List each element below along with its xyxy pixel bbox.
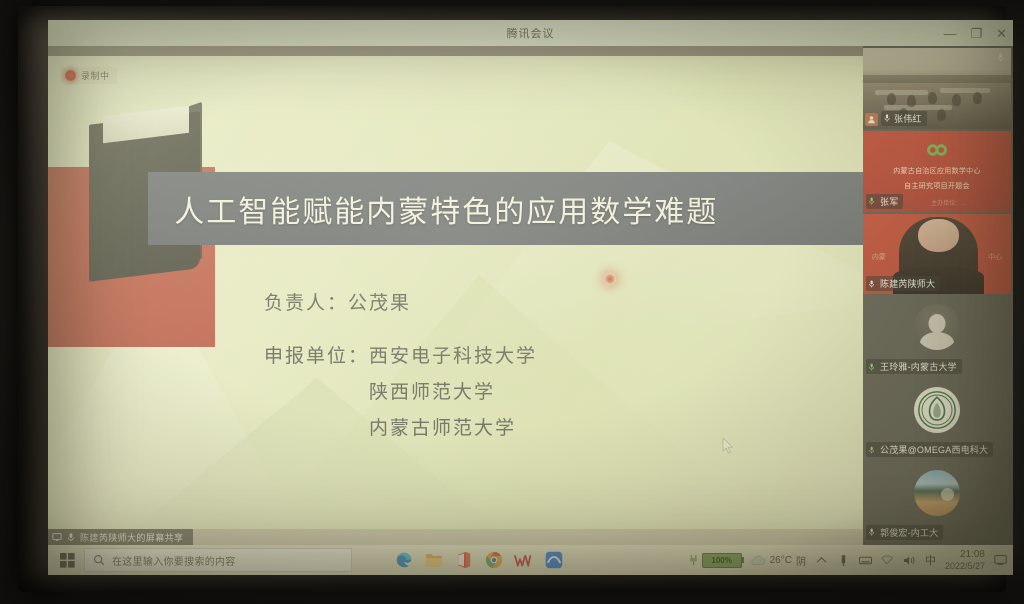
participant-name-chip: 陈建芮陕师大 <box>866 276 940 291</box>
participant-tile[interactable]: 郭俊宏-内工大 <box>863 462 1011 543</box>
slide-unit-item: 内蒙古师范大学 <box>369 413 537 440</box>
window-titlebar: 腾讯会议 — ❐ ✕ <box>48 20 1013 46</box>
participant-name-chip: 公茂果@OMEGA西电科大 <box>866 442 993 457</box>
wps-icon[interactable] <box>514 551 533 570</box>
plug-icon <box>688 554 699 566</box>
tile-slide-footer: 主办单位：… <box>931 198 967 207</box>
mic-icon <box>66 532 76 542</box>
tile-bg-text-left: 内蒙 <box>872 252 886 262</box>
slide-unit-item: 西安电子科技大学 <box>369 341 537 368</box>
weather-widget[interactable]: 26°C 阴 <box>751 553 806 568</box>
participant-name: 陈建芮陕师大 <box>880 277 935 290</box>
avatar <box>914 387 960 433</box>
presentation-slide[interactable]: 人工智能赋能内蒙特色的应用数学难题 负责人：公茂果 申报单位： 西安电子科技大学… <box>48 56 863 529</box>
mic-speaking-icon <box>868 362 877 372</box>
recording-dot-icon <box>65 70 76 81</box>
tile-slide-line-2: 自主研究项目开题会 <box>863 181 1011 191</box>
usb-icon[interactable] <box>837 554 850 567</box>
mic-icon <box>996 52 1005 63</box>
chevron-up-icon[interactable] <box>815 554 828 567</box>
participant-name-chip: 张军 <box>866 194 903 209</box>
tile-slide-line-1: 内蒙古自治区应用数学中心 <box>863 166 1011 176</box>
system-tray[interactable]: 100% 26°C 阴 <box>688 545 1007 575</box>
edge-icon[interactable] <box>394 551 413 570</box>
mic-icon <box>883 113 891 123</box>
share-status-label: 陈建芮陕师大的屏幕共享 <box>80 531 183 544</box>
volume-icon[interactable] <box>903 554 916 567</box>
monitor-icon <box>52 532 62 542</box>
windows-taskbar[interactable]: 在这里输入你要搜索的内容 <box>48 545 1013 575</box>
avatar <box>914 470 960 516</box>
share-status-tag: 陈建芮陕师大的屏幕共享 <box>48 529 193 545</box>
participant-name-chip: 王玲雅-内蒙古大学 <box>866 359 962 374</box>
search-placeholder: 在这里输入你要搜索的内容 <box>112 553 236 568</box>
projected-screen: 腾讯会议 — ❐ ✕ <box>48 20 1013 575</box>
recording-indicator: 录制中 <box>61 67 117 84</box>
recording-label: 录制中 <box>81 69 110 82</box>
ime-indicator[interactable]: 中 <box>925 552 936 568</box>
maximize-button[interactable]: ❐ <box>970 27 982 40</box>
participant-name: 郭俊宏-内工大 <box>880 526 938 539</box>
taskbar-app-icons[interactable] <box>394 551 563 570</box>
infinity-logo-icon <box>920 142 954 158</box>
tencent-meeting-icon[interactable] <box>544 551 563 570</box>
projection-room: 腾讯会议 — ❐ ✕ <box>0 0 1024 604</box>
participant-name-chip: 郭俊宏-内工大 <box>866 525 943 540</box>
participant-name: 王玲雅-内蒙古大学 <box>880 360 957 373</box>
weather-label: 阴 <box>796 553 806 568</box>
participant-tile[interactable]: 内蒙 中心 陈建芮陕师大 <box>863 214 1011 295</box>
slide-unit-item: 陕西师范大学 <box>369 377 537 404</box>
share-top-strip <box>48 46 863 56</box>
battery-indicator[interactable]: 100% <box>688 553 742 568</box>
notification-icon[interactable] <box>994 554 1007 567</box>
slide-body: 负责人：公茂果 申报单位： 西安电子科技大学 陕西师范大学 内蒙古师范大学 <box>264 288 814 440</box>
slide-units-row: 申报单位： 西安电子科技大学 陕西师范大学 内蒙古师范大学 <box>264 341 814 440</box>
participant-strip[interactable]: 张伟红 内蒙古自治区应用数学中心 自主研究项目开题会 主办单位：… <box>863 46 1013 545</box>
meeting-body: 人工智能赋能内蒙特色的应用数学难题 负责人：公茂果 申报单位： 西安电子科技大学… <box>48 46 1013 545</box>
network-icon[interactable] <box>881 554 894 567</box>
clock-date: 2022/5/27 <box>945 561 985 571</box>
chrome-icon[interactable] <box>484 551 503 570</box>
omega-logo-icon <box>917 390 957 430</box>
clock-widget[interactable]: 21:08 2022/5/27 <box>945 549 985 571</box>
mouse-cursor-icon <box>722 437 734 455</box>
close-button[interactable]: ✕ <box>996 27 1007 40</box>
cloud-icon <box>751 555 766 566</box>
clock-time: 21:08 <box>960 549 985 561</box>
slide-unit-list: 西安电子科技大学 陕西师范大学 内蒙古师范大学 <box>369 341 537 440</box>
keyboard-icon[interactable] <box>859 554 872 567</box>
search-input[interactable]: 在这里输入你要搜索的内容 <box>84 548 352 572</box>
slide-title: 人工智能赋能内蒙特色的应用数学难题 <box>174 187 718 231</box>
person-face-shape <box>918 219 959 253</box>
shared-screen-area: 人工智能赋能内蒙特色的应用数学难题 负责人：公茂果 申报单位： 西安电子科技大学… <box>48 46 863 545</box>
slide-unit-label: 申报单位： <box>264 341 369 440</box>
tencent-meeting-window: 腾讯会议 — ❐ ✕ <box>48 20 1013 575</box>
battery-full-icon: 100% <box>702 553 742 568</box>
mic-icon <box>868 527 877 537</box>
mic-speaking-icon <box>868 196 877 206</box>
laser-pointer-dot <box>604 273 616 285</box>
participant-tile[interactable]: 王玲雅-内蒙古大学 <box>863 296 1011 377</box>
mic-icon <box>868 279 877 289</box>
windows-start-icon[interactable] <box>52 545 82 575</box>
file-explorer-icon[interactable] <box>424 551 443 570</box>
office-icon[interactable] <box>454 551 473 570</box>
window-controls: — ❐ ✕ <box>943 20 1007 46</box>
temperature-label: 26°C <box>770 555 792 566</box>
share-footer-bar: 陈建芮陕师大的屏幕共享 <box>48 529 863 545</box>
battery-percent: 100% <box>711 556 731 565</box>
participant-tile[interactable]: 内蒙古自治区应用数学中心 自主研究项目开题会 主办单位：… 张军 <box>863 131 1011 212</box>
participant-name-chip: 张伟红 <box>881 111 927 126</box>
mic-speaking-icon <box>868 445 877 455</box>
search-icon <box>93 554 105 566</box>
participant-name: 张军 <box>880 195 898 208</box>
minimize-button[interactable]: — <box>943 27 956 40</box>
projector-screen-frame: 腾讯会议 — ❐ ✕ <box>18 6 1006 592</box>
participant-name: 公茂果@OMEGA西电科大 <box>880 443 988 456</box>
avatar <box>914 304 960 350</box>
window-title: 腾讯会议 <box>507 25 555 41</box>
slide-leader: 负责人：公茂果 <box>264 288 814 315</box>
host-icon <box>865 113 878 126</box>
slide-title-band: 人工智能赋能内蒙特色的应用数学难题 <box>148 172 863 245</box>
participant-name: 张伟红 <box>894 112 922 125</box>
participant-tile[interactable]: 张伟红 <box>863 48 1011 129</box>
tile-bg-text-right: 中心 <box>988 252 1002 262</box>
participant-tile[interactable]: 公茂果@OMEGA西电科大 <box>863 379 1011 460</box>
